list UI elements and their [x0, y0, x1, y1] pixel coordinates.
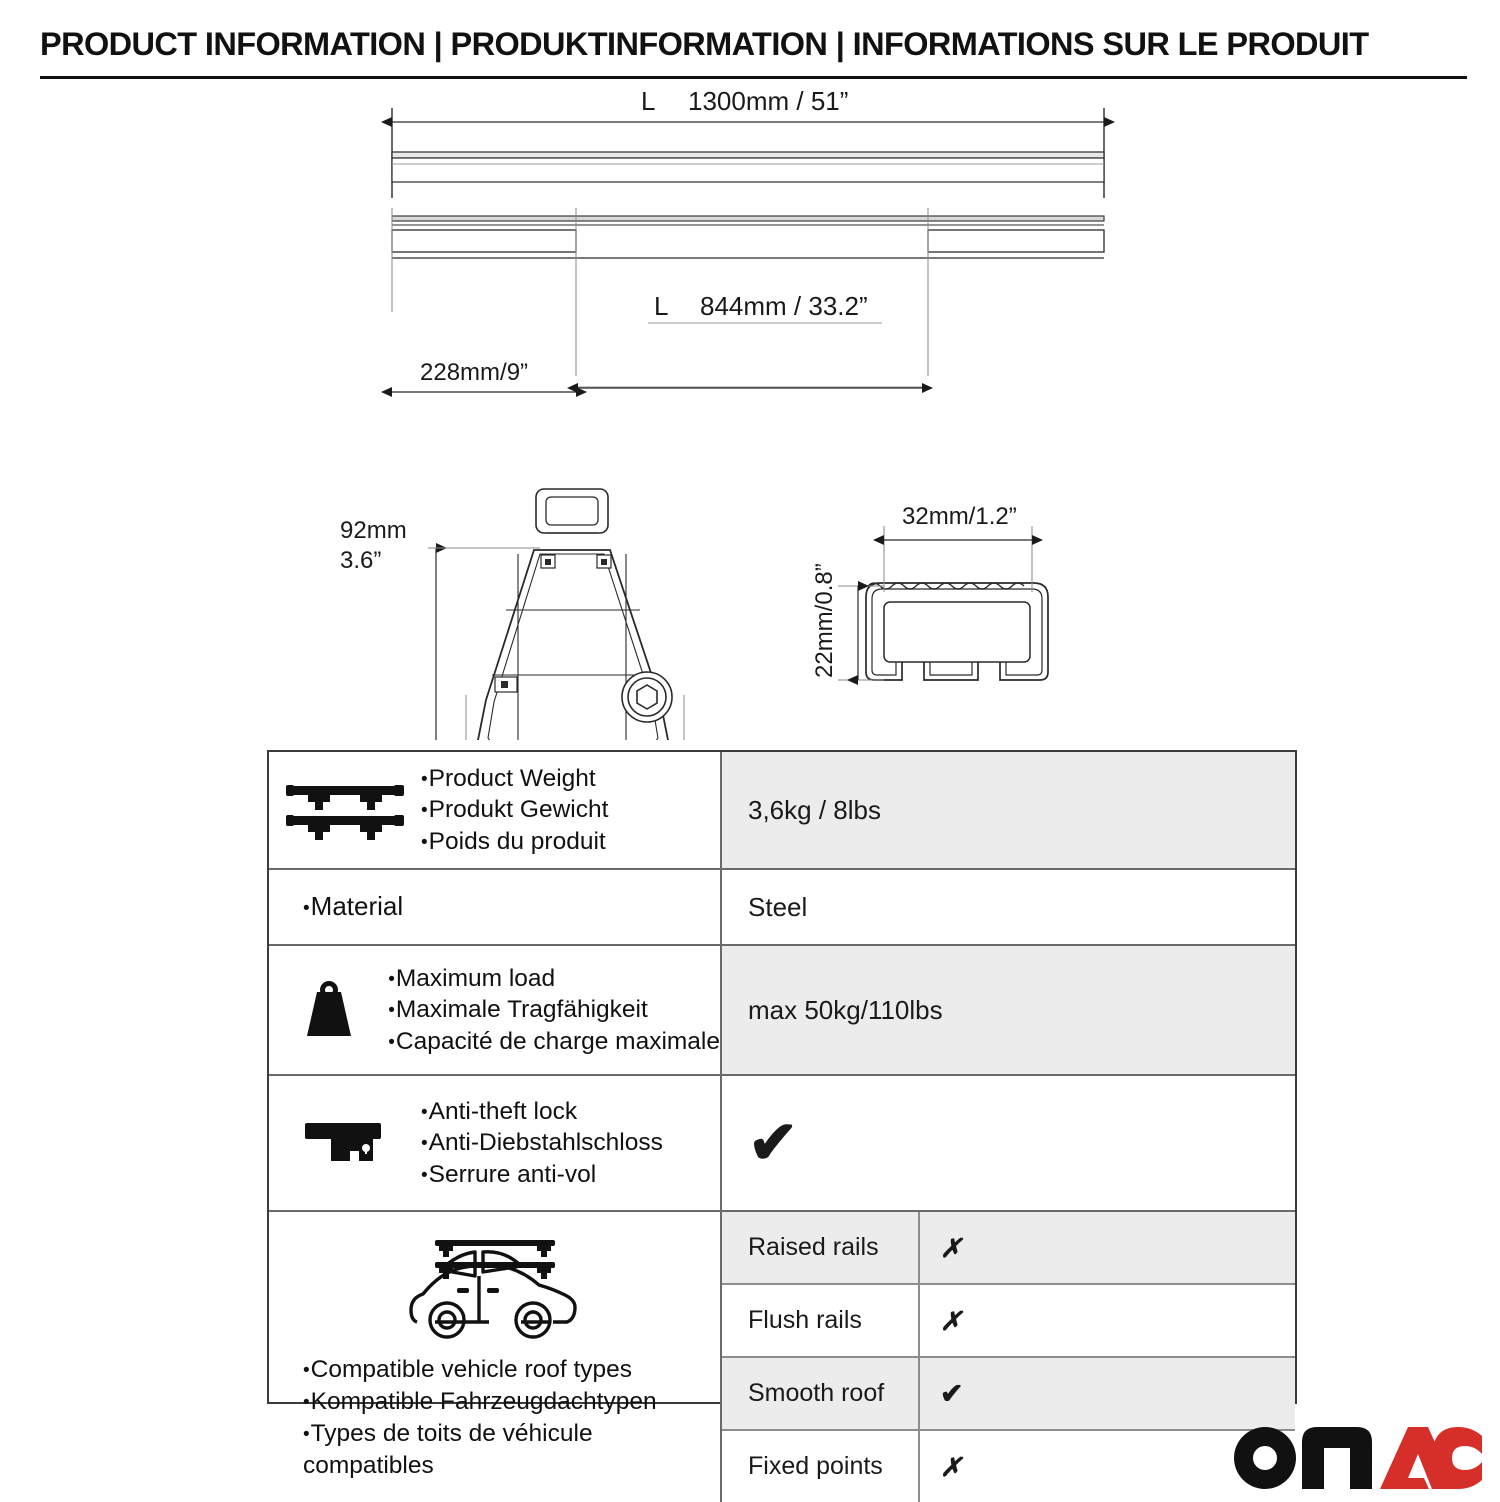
- spec-label-cell: Compatible vehicle roof types Kompatible…: [269, 1212, 722, 1502]
- spec-label-cell: Maximum load Maximale Tragfähigkeit Capa…: [269, 946, 722, 1074]
- roof-type-support: ✗: [920, 1285, 1295, 1356]
- roof-type-name: Fixed points: [722, 1431, 920, 1502]
- check-icon: ✔: [748, 1113, 798, 1173]
- spec-value: 3,6kg / 8lbs: [722, 752, 1295, 868]
- spec-labels: Product Weight Produkt Gewicht Poids du …: [421, 763, 608, 858]
- spec-label-cell: Product Weight Produkt Gewicht Poids du …: [269, 752, 722, 868]
- roof-type-row: Raised rails ✗: [722, 1212, 1295, 1285]
- spec-value: max 50kg/110lbs: [722, 946, 1295, 1074]
- car-with-rack-icon: [269, 1226, 720, 1346]
- cross-icon: ✗: [940, 1454, 962, 1480]
- page-title: PRODUCT INFORMATION | PRODUKTINFORMATION…: [40, 26, 1470, 63]
- end-section-value: 228mm/9”: [420, 359, 528, 386]
- table-row: Anti-theft lock Anti-Diebstahlschloss Se…: [269, 1076, 1295, 1212]
- spec-label: Poids du produit: [421, 826, 608, 858]
- spec-label: Kompatible Fahrzeugdachtypen: [303, 1386, 703, 1418]
- spec-labels: Anti-theft lock Anti-Diebstahlschloss Se…: [421, 1096, 663, 1191]
- foot-height-line2: 3.6”: [340, 547, 381, 574]
- lock-icon: [269, 1115, 421, 1171]
- spec-label-cell: Material: [269, 870, 722, 944]
- foot-height-line1: 92mm: [340, 517, 407, 544]
- check-icon: ✔: [940, 1380, 963, 1408]
- spec-label: Anti-theft lock: [421, 1096, 663, 1128]
- spec-label-cell: Anti-theft lock Anti-Diebstahlschloss Se…: [269, 1076, 722, 1210]
- technical-drawing: L 1300mm / 51” 228mm/9” L 844mm / 33.2” …: [0, 80, 1500, 740]
- bar-length-label: L: [641, 86, 655, 116]
- roof-type-row: Flush rails ✗: [722, 1285, 1295, 1358]
- roof-type-support: ✗: [920, 1212, 1295, 1283]
- spec-labels: Material: [269, 890, 403, 924]
- roof-type-name: Flush rails: [722, 1285, 920, 1356]
- cross-icon: ✗: [940, 1308, 962, 1334]
- bar-length-value: 1300mm / 51”: [688, 86, 848, 116]
- span-label: L: [654, 291, 668, 321]
- span-value: 844mm / 33.2”: [700, 291, 868, 321]
- spec-label: Compatible vehicle roof types: [303, 1354, 703, 1386]
- table-row: Product Weight Produkt Gewicht Poids du …: [269, 752, 1295, 870]
- profile-height-value: 22mm/0.8”: [811, 563, 838, 678]
- specification-table: Product Weight Produkt Gewicht Poids du …: [267, 750, 1297, 1404]
- roof-type-name: Smooth roof: [722, 1358, 920, 1429]
- spec-label: Serrure anti-vol: [421, 1159, 663, 1191]
- spec-labels: Compatible vehicle roof types Kompatible…: [269, 1354, 703, 1481]
- roof-type-subtable: Raised rails ✗ Flush rails ✗ Smooth roof…: [722, 1212, 1295, 1502]
- roof-type-row: Smooth roof ✔: [722, 1358, 1295, 1431]
- spec-label: Maximale Tragfähigkeit: [388, 994, 720, 1026]
- weight-icon: [269, 972, 388, 1048]
- spec-label: Product Weight: [421, 763, 608, 795]
- profile-width-value: 32mm/1.2”: [902, 503, 1017, 530]
- table-row: Maximum load Maximale Tragfähigkeit Capa…: [269, 946, 1295, 1076]
- omac-logo: [1232, 1418, 1482, 1492]
- roof-type-name: Raised rails: [722, 1212, 920, 1283]
- spec-labels: Maximum load Maximale Tragfähigkeit Capa…: [388, 963, 720, 1058]
- spec-label: Types de toits de véhicule compatibles: [303, 1418, 703, 1482]
- cross-icon: ✗: [940, 1235, 962, 1261]
- product-information-sheet: PRODUCT INFORMATION | PRODUKTINFORMATION…: [0, 0, 1500, 1500]
- spec-value: Steel: [722, 870, 1295, 944]
- table-row: Compatible vehicle roof types Kompatible…: [269, 1212, 1295, 1502]
- spec-label: Capacité de charge maximale: [388, 1026, 720, 1058]
- roof-bars-icon: [269, 778, 421, 842]
- table-row: Material Steel: [269, 870, 1295, 946]
- spec-label: Anti-Diebstahlschloss: [421, 1127, 663, 1159]
- spec-value-check: ✔: [722, 1076, 1295, 1210]
- spec-label: Produkt Gewicht: [421, 794, 608, 826]
- spec-label: Maximum load: [388, 963, 720, 995]
- roof-type-row: Fixed points ✗: [722, 1431, 1295, 1502]
- spec-label: Material: [303, 890, 403, 924]
- title-divider: [40, 76, 1467, 79]
